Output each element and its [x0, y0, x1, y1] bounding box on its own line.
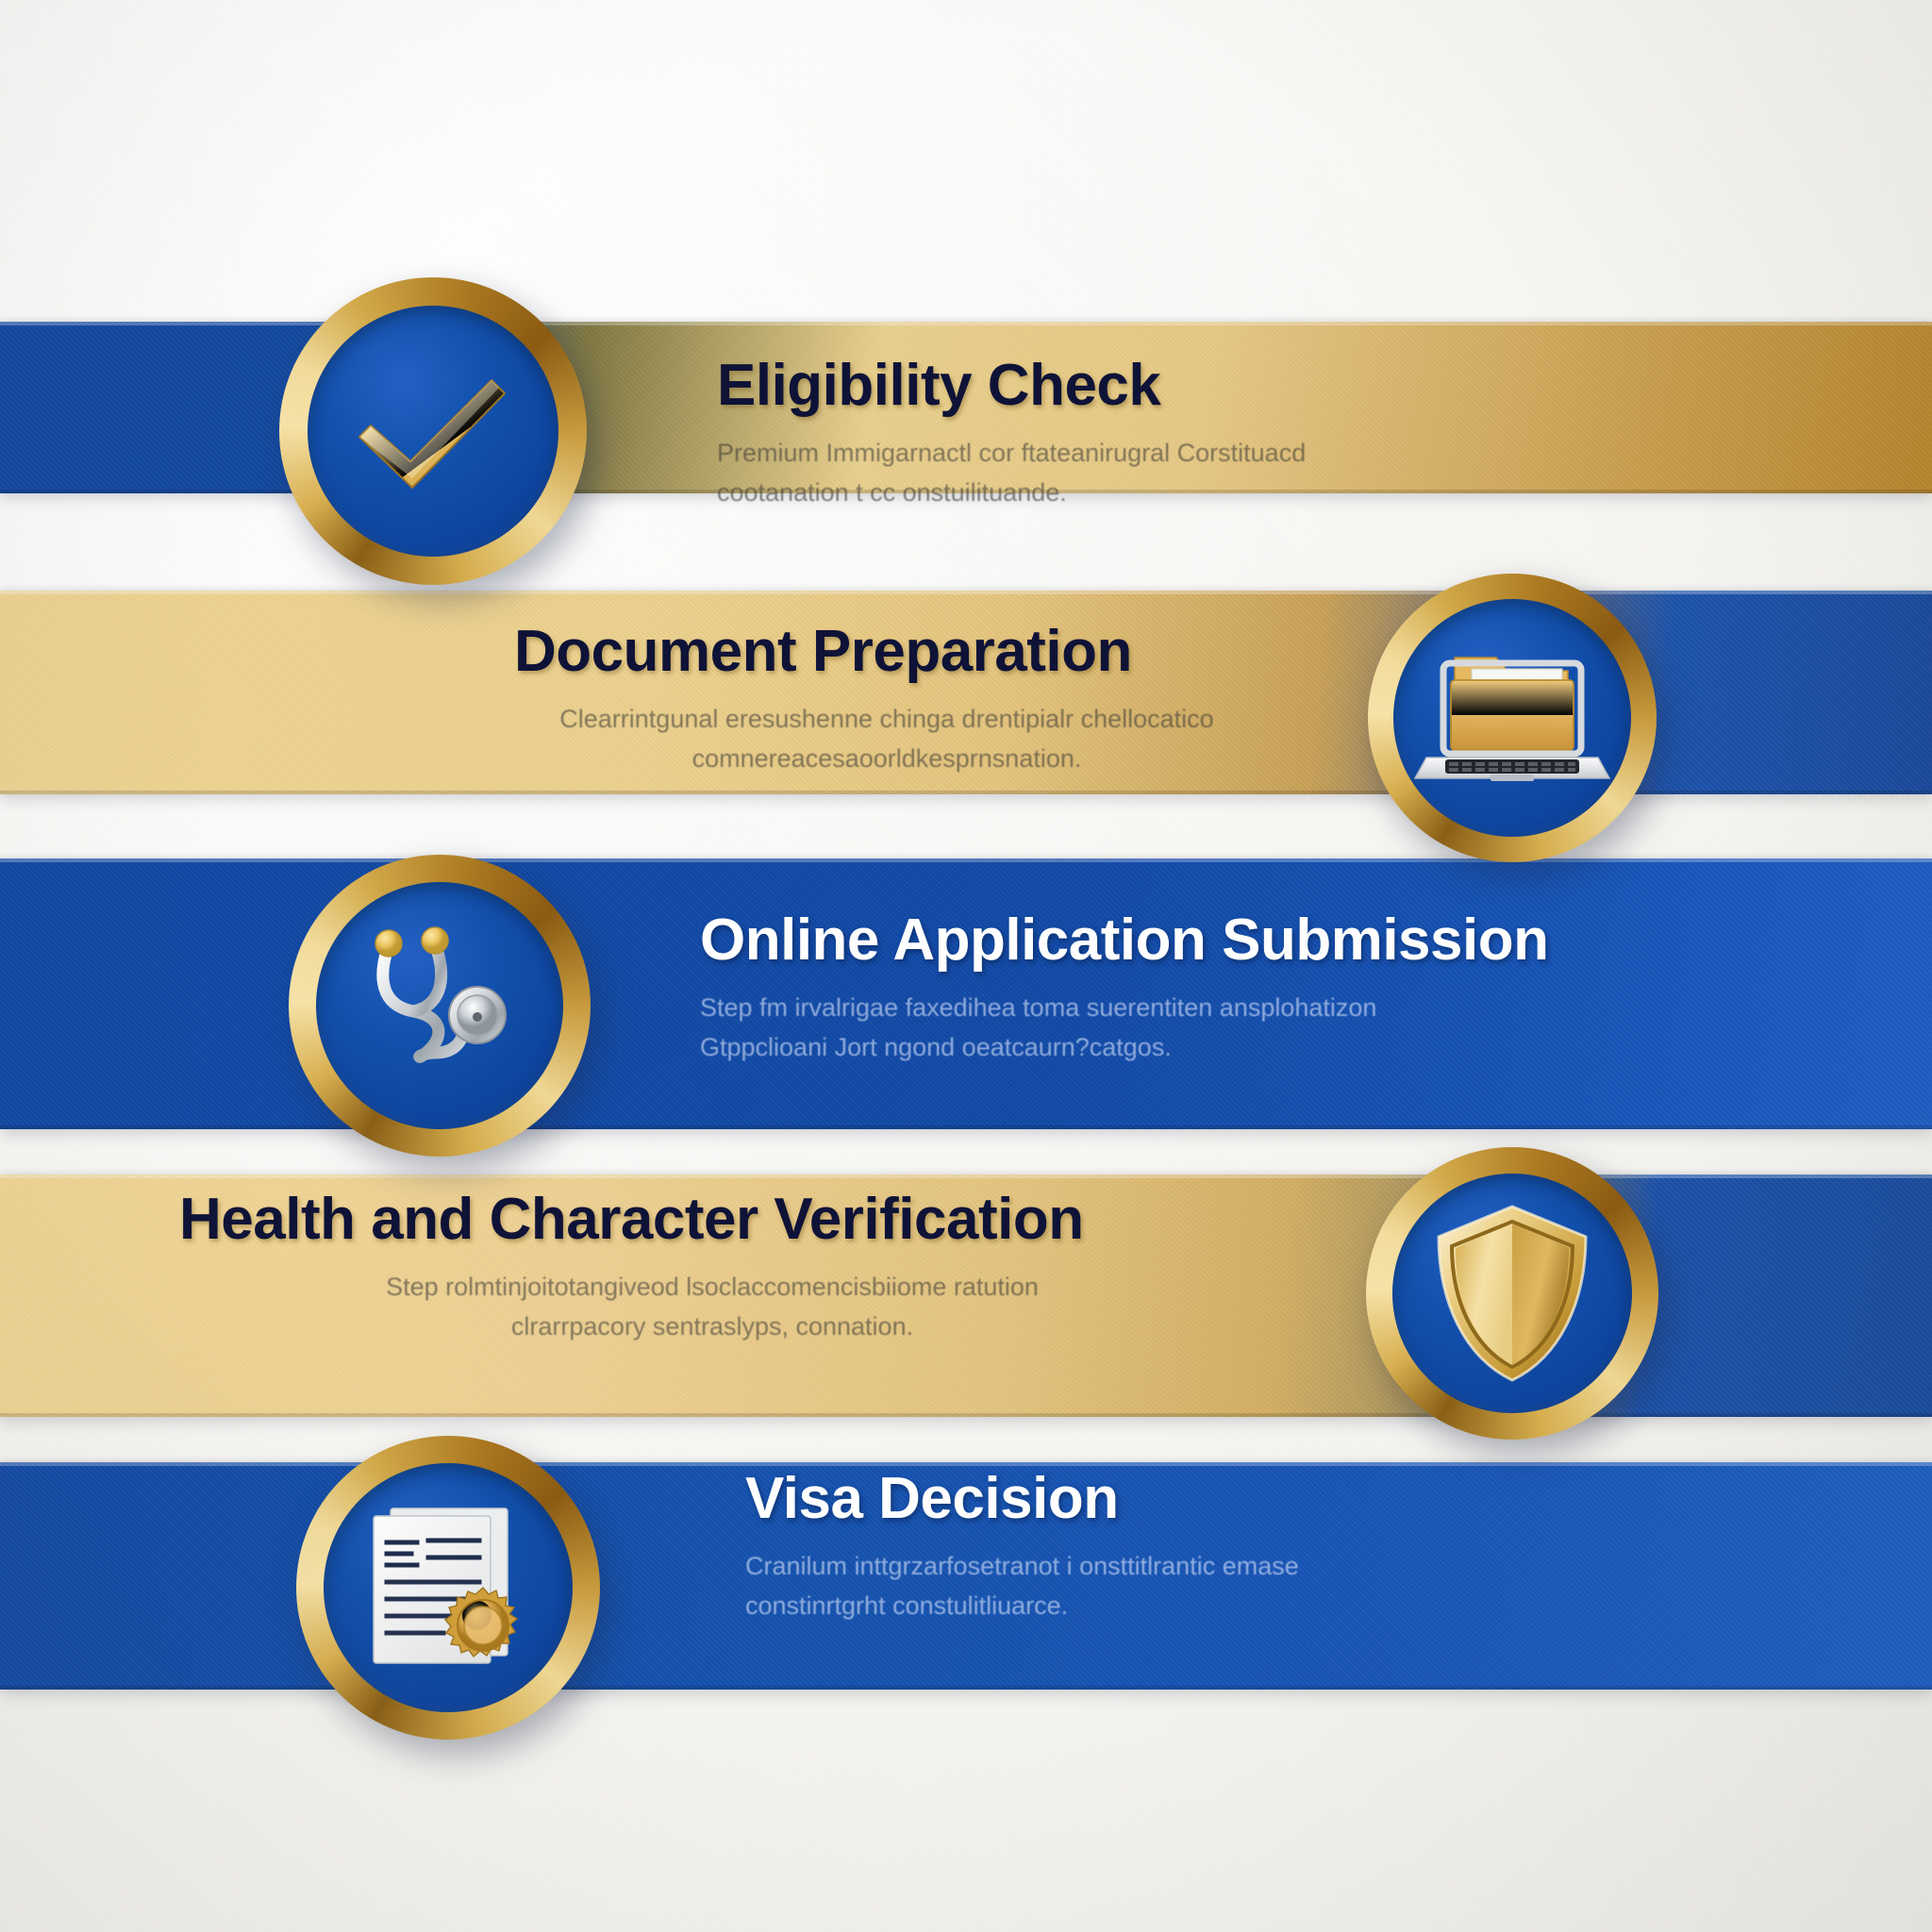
- step-icon-badge-2: [1368, 574, 1657, 862]
- stethoscope-icon: [289, 855, 591, 1157]
- step-text-2: Document Preparation Clearrintgunal eres…: [514, 623, 1259, 779]
- step-icon-badge-4: [1366, 1147, 1658, 1440]
- checkmark-icon: [279, 277, 587, 585]
- step-title-5: Visa Decision: [745, 1470, 1500, 1528]
- step-subtitle-1-line1: Premium Immigarnactl cor ftateanirugral …: [717, 434, 1491, 474]
- step-text-3: Online Application Submission Step fm ir…: [700, 911, 1549, 1068]
- step-text-4: Health and Character Verification Step r…: [179, 1191, 1245, 1347]
- step-subtitle-3: Step fm irvalrigae faxedihea toma sueren…: [700, 989, 1549, 1068]
- step-subtitle-5-line1: Cranilum inttgrzarfosetranot i onsttitlr…: [745, 1547, 1500, 1587]
- step-title-1: Eligibility Check: [717, 357, 1491, 415]
- step-subtitle-2-line1: Clearrintgunal eresushenne chinga drenti…: [514, 700, 1259, 740]
- step-text-1: Eligibility Check Premium Immigarnactl c…: [717, 357, 1491, 513]
- step-text-5: Visa Decision Cranilum inttgrzarfosetran…: [745, 1470, 1500, 1626]
- step-title-3: Online Application Submission: [700, 911, 1549, 970]
- step-subtitle-3-line1: Step fm irvalrigae faxedihea toma sueren…: [700, 989, 1549, 1028]
- band-edge-bottom: [0, 1686, 1932, 1690]
- step-title-2: Document Preparation: [514, 623, 1259, 681]
- step-subtitle-5-line2: constinrtgrht constulitliuarce.: [745, 1587, 1500, 1626]
- step-subtitle-1-line2: cootanation t cc onstuilituande.: [717, 474, 1491, 513]
- infographic-canvas: Eligibility Check Premium Immigarnactl c…: [0, 0, 1932, 1932]
- step-subtitle-2-line2: comnereacesaoorldkesprnsnation.: [514, 740, 1259, 779]
- step-subtitle-2: Clearrintgunal eresushenne chinga drenti…: [514, 700, 1259, 779]
- certificate-seal-icon: [296, 1436, 600, 1740]
- step-subtitle-5: Cranilum inttgrzarfosetranot i onsttitlr…: [745, 1547, 1500, 1626]
- step-title-4: Health and Character Verification: [179, 1191, 1245, 1249]
- step-subtitle-3-line2: Gtppclioani Jort ngond oeatcaurn?catgos.: [700, 1028, 1549, 1068]
- step-icon-badge-3: [289, 855, 591, 1157]
- laptop-folder-icon: [1368, 574, 1657, 862]
- step-icon-badge-1: [279, 277, 587, 585]
- step-subtitle-1: Premium Immigarnactl cor ftateanirugral …: [717, 434, 1491, 513]
- step-subtitle-4-line2: clrarrpacory sentraslyps, connation.: [179, 1307, 1245, 1347]
- step-subtitle-4: Step rolmtinjoitotangiveod lsoclaccomenc…: [179, 1268, 1245, 1347]
- step-subtitle-4-line1: Step rolmtinjoitotangiveod lsoclaccomenc…: [179, 1268, 1245, 1307]
- shield-icon: [1366, 1147, 1658, 1440]
- step-icon-badge-5: [296, 1436, 600, 1740]
